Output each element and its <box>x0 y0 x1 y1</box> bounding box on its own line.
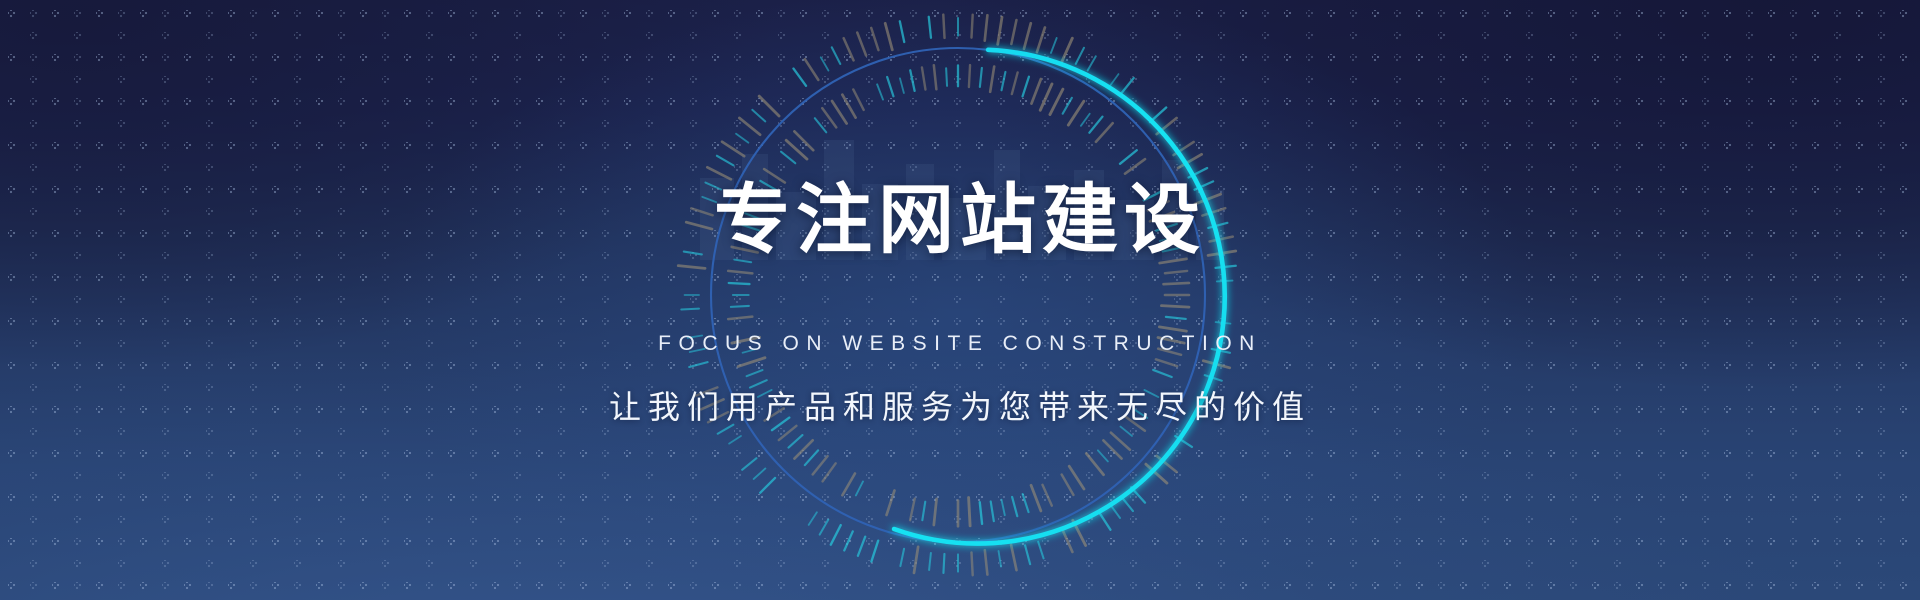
hero-banner: 专注网站建设 FOCUS ON WEBSITE CONSTRUCTION 让我们… <box>0 0 1920 600</box>
page-title: 专注网站建设 <box>0 182 1920 258</box>
tagline-chinese: 让我们用产品和服务为您带来无尽的价值 <box>0 382 1920 428</box>
subtitle-english: FOCUS ON WEBSITE CONSTRUCTION <box>0 332 1920 356</box>
cross-dot-grid-pattern-secondary <box>0 0 1920 600</box>
